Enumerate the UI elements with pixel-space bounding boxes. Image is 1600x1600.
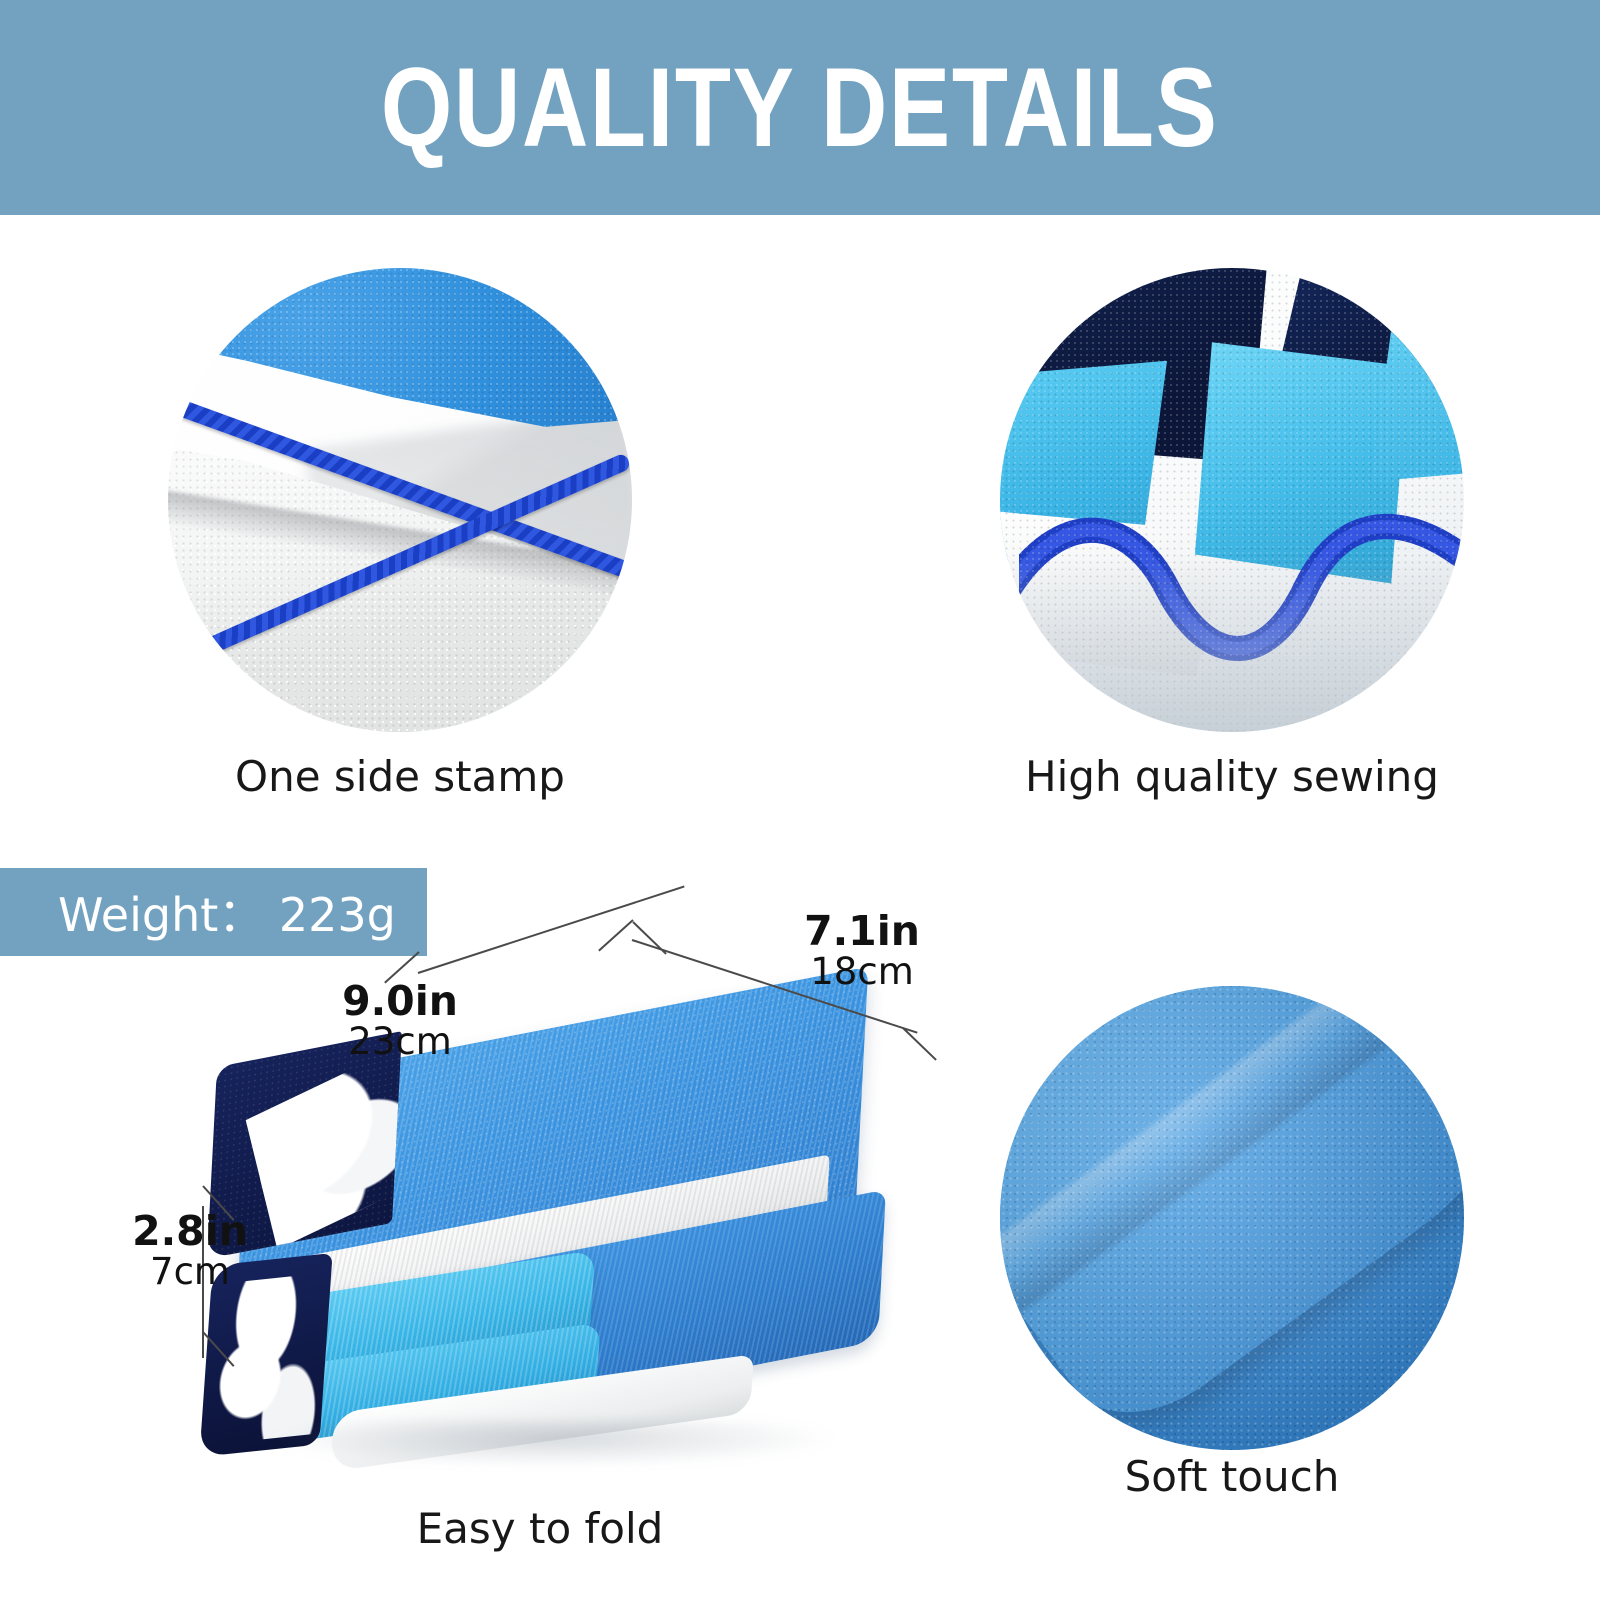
feature-image-soft-touch — [1000, 986, 1464, 1450]
dimension-depth-inches: 9.0in — [290, 980, 510, 1023]
dimension-line-depth — [418, 886, 685, 974]
page-header: QUALITY DETAILS — [0, 0, 1600, 215]
dimension-tick-width-start — [632, 921, 666, 954]
feature-image-easy-to-fold — [212, 1028, 892, 1448]
feature-image-one-side-stamp — [168, 268, 632, 732]
dimension-tick-width-end — [902, 1027, 936, 1060]
dimension-width-metric: 18cm — [752, 953, 972, 992]
dimension-label-depth: 9.0in 23cm — [290, 980, 510, 1062]
feature-caption-soft-touch: Soft touch — [1000, 1452, 1464, 1501]
dimension-width-inches: 7.1in — [752, 910, 972, 953]
dimension-height-metric: 7cm — [80, 1253, 300, 1292]
dimension-height-inches: 2.8in — [80, 1210, 300, 1253]
dimension-label-height: 2.8in 7cm — [80, 1210, 300, 1292]
feature-image-high-quality-sewing — [1000, 268, 1464, 732]
soft-touch-vignette — [1000, 986, 1464, 1450]
dimension-depth-metric: 23cm — [290, 1023, 510, 1062]
towel-drop-shadow — [272, 1420, 832, 1466]
feature-caption-one-side-stamp: One side stamp — [168, 752, 632, 801]
feature-caption-high-quality-sewing: High quality sewing — [1000, 752, 1464, 801]
feature-caption-easy-to-fold: Easy to fold — [300, 1504, 780, 1553]
sewing-photo-table-shadow — [1000, 556, 1464, 732]
page-title: QUALITY DETAILS — [381, 52, 1219, 164]
dimension-label-width: 7.1in 18cm — [752, 910, 972, 992]
dimension-tick-depth-end — [598, 919, 634, 951]
folded-towel-diagram: 7.1in 18cm 9.0in 23cm 2.8in 7cm — [180, 900, 940, 1520]
